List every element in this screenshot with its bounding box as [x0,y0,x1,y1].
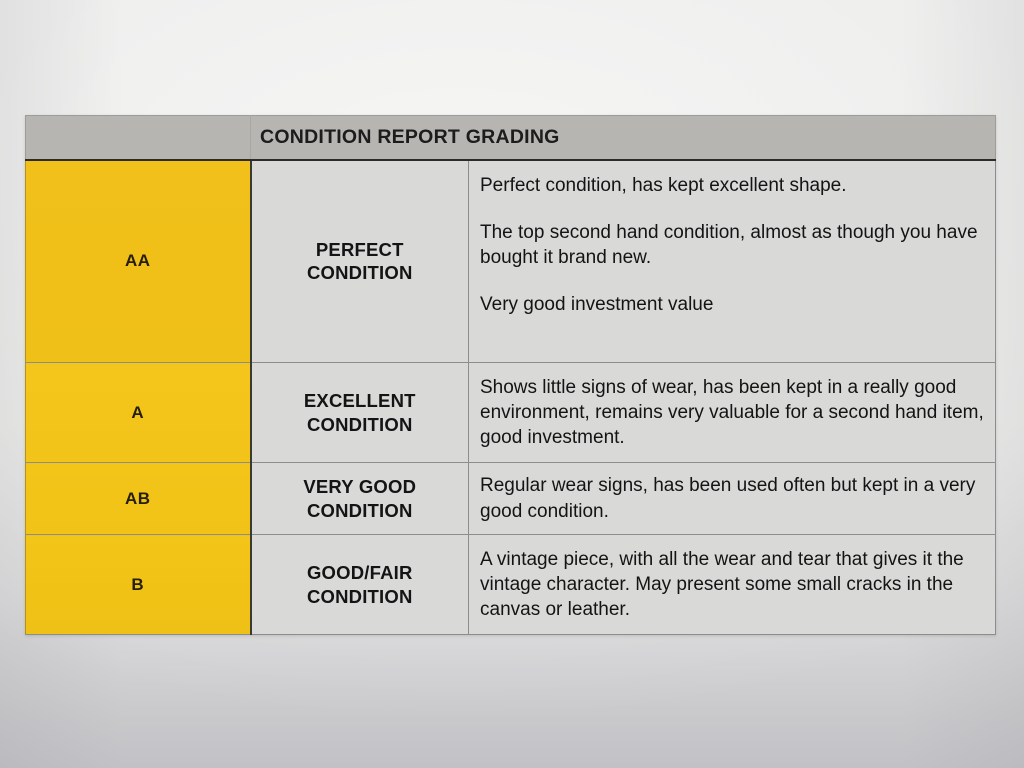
condition-description-ab: Regular wear signs, has been used often … [469,463,996,535]
grade-code-ab: AB [26,463,251,535]
table-title-spacer [26,116,251,160]
grade-code-aa: AA [26,160,251,363]
page-title: CONDITION REPORT GRADING [251,126,995,149]
condition-label-line2: CONDITION [256,499,465,523]
description-paragraph: Very good investment value [480,292,985,317]
condition-label-aa: PERFECT CONDITION [251,160,469,363]
condition-label-line2: CONDITION [256,261,465,285]
condition-report-table-container: CONDITION REPORT GRADING AA PERFECT COND… [25,115,995,635]
table-row: A EXCELLENT CONDITION Shows little signs… [26,363,996,463]
condition-label-line2: CONDITION [256,585,465,609]
condition-label-line2: CONDITION [256,413,465,437]
description-paragraph: A vintage piece, with all the wear and t… [480,547,985,623]
condition-label-a: EXCELLENT CONDITION [251,363,469,463]
condition-label-line1: PERFECT [256,238,465,262]
table-row: AB VERY GOOD CONDITION Regular wear sign… [26,463,996,535]
condition-label-line1: VERY GOOD [256,475,465,499]
condition-label-ab: VERY GOOD CONDITION [251,463,469,535]
description-paragraph: Shows little signs of wear, has been kep… [480,375,985,451]
condition-report-grading-table: CONDITION REPORT GRADING AA PERFECT COND… [25,115,996,635]
description-paragraph: Regular wear signs, has been used often … [480,473,985,524]
table-title-row: CONDITION REPORT GRADING [26,116,996,160]
grade-code-b: B [26,535,251,635]
condition-label-line1: GOOD/FAIR [256,561,465,585]
grade-code-a: A [26,363,251,463]
condition-label-b: GOOD/FAIR CONDITION [251,535,469,635]
table-title-header: CONDITION REPORT GRADING [251,116,996,160]
condition-description-b: A vintage piece, with all the wear and t… [469,535,996,635]
table-row: B GOOD/FAIR CONDITION A vintage piece, w… [26,535,996,635]
condition-description-a: Shows little signs of wear, has been kep… [469,363,996,463]
table-body: AA PERFECT CONDITION Perfect condition, … [26,160,996,635]
table-row: AA PERFECT CONDITION Perfect condition, … [26,160,996,363]
description-paragraph: Perfect condition, has kept excellent sh… [480,173,985,198]
condition-label-line1: EXCELLENT [256,389,465,413]
condition-description-aa: Perfect condition, has kept excellent sh… [469,160,996,363]
description-paragraph: The top second hand condition, almost as… [480,220,985,271]
